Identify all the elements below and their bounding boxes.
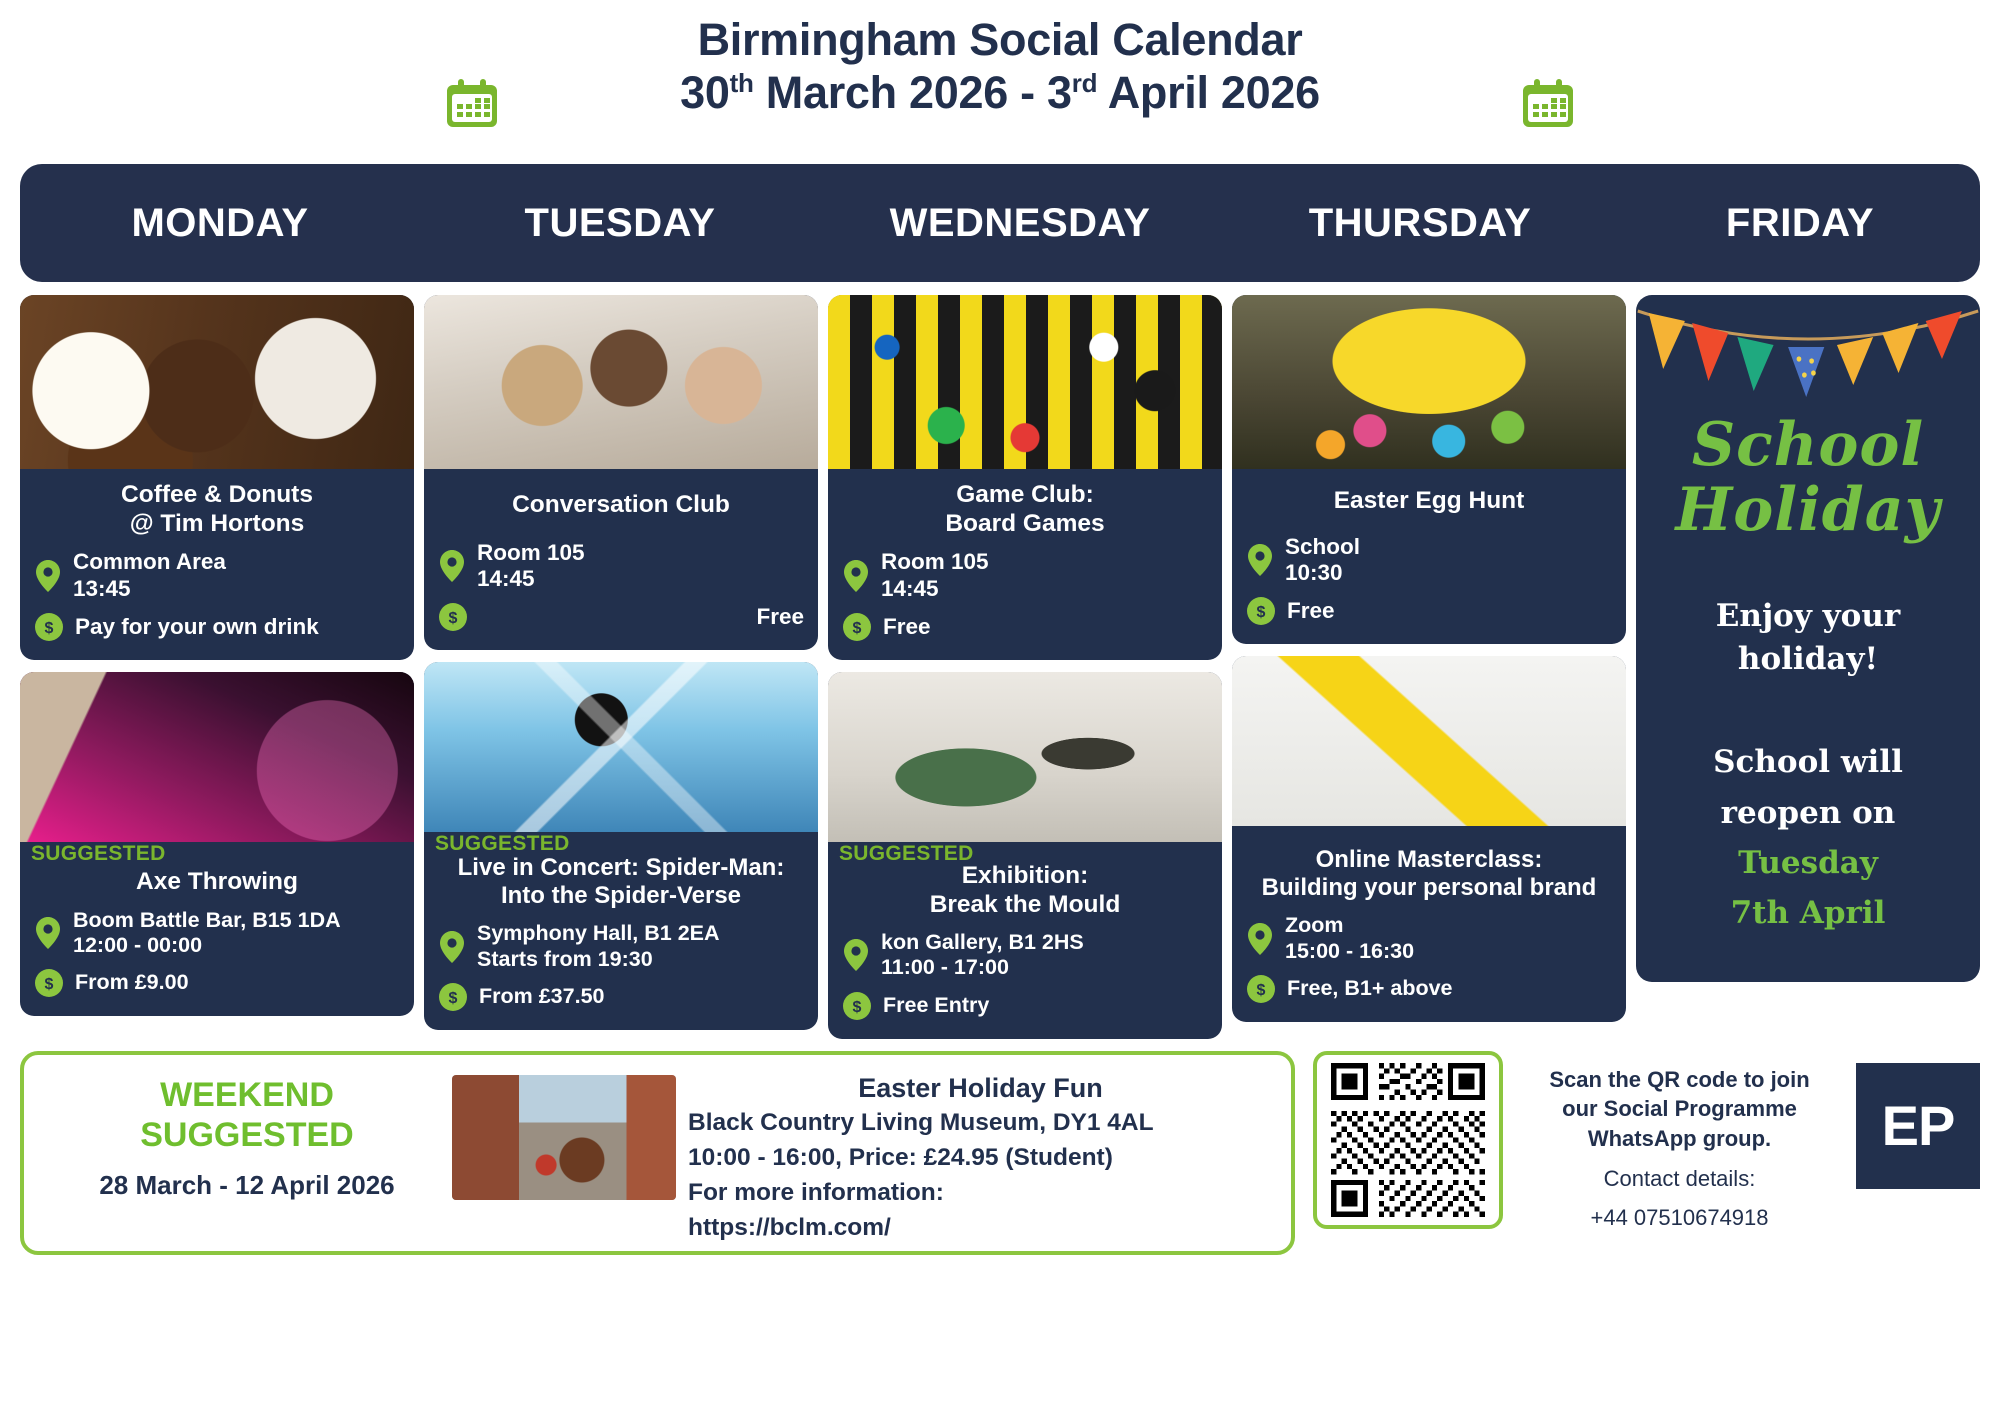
weekend-event-title: Easter Holiday Fun bbox=[688, 1073, 1273, 1104]
weekend-date-range: 28 March - 12 April 2026 bbox=[42, 1170, 452, 1201]
svg-text:$: $ bbox=[1257, 604, 1266, 621]
location-pin-icon bbox=[34, 560, 62, 592]
location-pin-icon bbox=[842, 560, 870, 592]
event-location: Room 105 bbox=[477, 540, 585, 566]
event-time: Starts from 19:30 bbox=[477, 947, 720, 972]
dollar-coin-icon: $ bbox=[842, 612, 872, 642]
event-location: kon Gallery, B1 2HS bbox=[881, 930, 1084, 955]
event-title-line2: Into the Spider-Verse bbox=[442, 882, 800, 910]
calendar-poster: Birmingham Social Calendar 30th March 20… bbox=[0, 0, 2000, 1414]
suggested-badge: SUGGESTED bbox=[435, 832, 570, 856]
event-time: 11:00 - 17:00 bbox=[881, 955, 1084, 980]
svg-text:$: $ bbox=[45, 976, 54, 993]
event-price: Free, B1+ above bbox=[1287, 976, 1612, 1001]
dollar-coin-icon: $ bbox=[438, 982, 468, 1012]
event-price: Free Entry bbox=[883, 993, 1208, 1018]
holiday-script-line1: School bbox=[1636, 413, 1980, 478]
event-location: Room 105 bbox=[881, 549, 989, 575]
location-pin-icon bbox=[842, 939, 870, 971]
event-title-line1: Online Masterclass: bbox=[1250, 846, 1608, 874]
location-pin-icon bbox=[1246, 544, 1274, 576]
weekend-event-details: Easter Holiday Fun Black Country Living … bbox=[688, 1069, 1273, 1244]
svg-text:$: $ bbox=[45, 620, 54, 637]
svg-text:$: $ bbox=[853, 999, 862, 1016]
contact-phone: +44 07510674918 bbox=[1519, 1203, 1840, 1233]
reopen-day: Tuesday bbox=[1636, 838, 1980, 888]
qr-code[interactable] bbox=[1313, 1051, 1503, 1229]
column-tuesday: Conversation Club Room 105 14:45 bbox=[424, 295, 818, 1030]
location-pin-icon bbox=[438, 550, 466, 582]
weekday-header-bar: MONDAY TUESDAY WEDNESDAY THURSDAY FRIDAY bbox=[20, 164, 1980, 282]
event-price: Free bbox=[1287, 598, 1612, 624]
column-friday: School Holiday Enjoy your holiday! Schoo… bbox=[1636, 295, 1980, 982]
qr-contact-area: Scan the QR code to join our Social Prog… bbox=[1295, 1051, 1980, 1233]
event-title-line1: Coffee & Donuts bbox=[38, 481, 396, 510]
column-thursday: Easter Egg Hunt School 10:30 bbox=[1232, 295, 1626, 1022]
event-card-spider-verse-concert[interactable]: SUGGESTED Live in Concert: Spider-Man: I… bbox=[424, 662, 818, 1029]
weekend-heading-block: WEEKEND SUGGESTED 28 March - 12 April 20… bbox=[42, 1069, 452, 1202]
event-time: 12:00 - 00:00 bbox=[73, 933, 341, 958]
poster-header: Birmingham Social Calendar 30th March 20… bbox=[20, 0, 1980, 160]
weekend-event-image bbox=[452, 1075, 676, 1200]
column-monday: Coffee & Donuts @ Tim Hortons Common Are… bbox=[20, 295, 414, 1016]
weekend-heading-line2: SUGGESTED bbox=[42, 1115, 452, 1156]
date-prefix: 30 bbox=[680, 67, 729, 118]
event-time: 14:45 bbox=[881, 576, 989, 602]
event-price: From £9.00 bbox=[75, 970, 400, 995]
event-image bbox=[424, 295, 818, 469]
event-card-game-club[interactable]: Game Club: Board Games Room 105 14:45 bbox=[828, 295, 1222, 660]
date-ordinal-2: rd bbox=[1072, 68, 1097, 98]
dollar-coin-icon: $ bbox=[34, 968, 64, 998]
day-header-monday: MONDAY bbox=[20, 201, 420, 246]
weekend-event-more-info: For more information: bbox=[688, 1176, 1273, 1209]
event-card-axe-throwing[interactable]: SUGGESTED Axe Throwing Boom Battle Bar, … bbox=[20, 672, 414, 1016]
weekend-event-time-price: 10:00 - 16:00, Price: £24.95 (Student) bbox=[688, 1141, 1273, 1174]
event-location: Boom Battle Bar, B15 1DA bbox=[73, 908, 341, 933]
holiday-message-line2: holiday! bbox=[1636, 638, 1980, 681]
event-image bbox=[828, 295, 1222, 469]
event-title-line2: @ Tim Hortons bbox=[38, 510, 396, 539]
scan-line3: WhatsApp group. bbox=[1519, 1124, 1840, 1154]
weekend-event-venue: Black Country Living Museum, DY1 4AL bbox=[688, 1106, 1273, 1139]
event-title-line1: Easter Egg Hunt bbox=[1250, 487, 1608, 516]
svg-text:$: $ bbox=[449, 610, 458, 627]
qr-instructions: Scan the QR code to join our Social Prog… bbox=[1519, 1051, 1840, 1233]
dollar-coin-icon: $ bbox=[1246, 596, 1276, 626]
event-price: Pay for your own drink bbox=[75, 614, 400, 640]
suggested-badge: SUGGESTED bbox=[839, 842, 974, 866]
event-image bbox=[1232, 656, 1626, 826]
event-card-easter-egg-hunt[interactable]: Easter Egg Hunt School 10:30 bbox=[1232, 295, 1626, 644]
day-header-friday: FRIDAY bbox=[1620, 201, 1980, 246]
dollar-coin-icon: $ bbox=[1246, 974, 1276, 1004]
location-pin-icon bbox=[438, 931, 466, 963]
contact-label: Contact details: bbox=[1519, 1164, 1840, 1194]
event-image bbox=[1232, 295, 1626, 469]
holiday-script-line2: Holiday bbox=[1636, 478, 1980, 543]
scan-line1: Scan the QR code to join bbox=[1519, 1065, 1840, 1095]
event-card-conversation-club[interactable]: Conversation Club Room 105 14:45 bbox=[424, 295, 818, 650]
event-card-online-masterclass[interactable]: Online Masterclass: Building your person… bbox=[1232, 656, 1626, 1021]
page-title: Birmingham Social Calendar bbox=[20, 14, 1980, 66]
date-range-title: 30th March 2026 - 3rd April 2026 bbox=[20, 66, 1980, 119]
scan-line2: our Social Programme bbox=[1519, 1094, 1840, 1124]
svg-text:$: $ bbox=[449, 990, 458, 1007]
suggested-badge: SUGGESTED bbox=[31, 842, 166, 866]
reopen-line1: School will bbox=[1636, 737, 1980, 787]
event-time: 10:30 bbox=[1285, 560, 1360, 586]
event-title-line2: Board Games bbox=[846, 510, 1204, 539]
event-image bbox=[20, 672, 414, 842]
event-card-coffee-donuts[interactable]: Coffee & Donuts @ Tim Hortons Common Are… bbox=[20, 295, 414, 660]
day-header-thursday: THURSDAY bbox=[1220, 201, 1620, 246]
reopen-line2: reopen on bbox=[1636, 788, 1980, 838]
footer-section: WEEKEND SUGGESTED 28 March - 12 April 20… bbox=[20, 1051, 1980, 1255]
school-holiday-panel: School Holiday Enjoy your holiday! Schoo… bbox=[1636, 295, 1980, 982]
event-time: 13:45 bbox=[73, 576, 226, 602]
event-location: Common Area bbox=[73, 549, 226, 575]
event-title-line1: Conversation Club bbox=[442, 491, 800, 520]
event-time: 15:00 - 16:30 bbox=[1285, 939, 1414, 964]
ep-logo: EP bbox=[1856, 1063, 1980, 1189]
event-title-line2: Break the Mould bbox=[846, 891, 1204, 920]
dollar-coin-icon: $ bbox=[842, 991, 872, 1021]
dollar-coin-icon: $ bbox=[34, 612, 64, 642]
events-grid: Coffee & Donuts @ Tim Hortons Common Are… bbox=[20, 295, 1980, 1039]
event-image bbox=[424, 662, 818, 832]
date-suffix: April 2026 bbox=[1097, 67, 1320, 118]
bunting-flags-icon bbox=[1636, 295, 1980, 415]
weekend-suggested-box: WEEKEND SUGGESTED 28 March - 12 April 20… bbox=[20, 1051, 1295, 1255]
event-price: Free bbox=[479, 604, 804, 630]
event-location: School bbox=[1285, 534, 1360, 560]
date-ordinal-1: th bbox=[730, 68, 754, 98]
event-image bbox=[20, 295, 414, 469]
event-title-line1: Exhibition: bbox=[846, 862, 1204, 891]
event-price: Free bbox=[883, 614, 1208, 640]
day-header-tuesday: TUESDAY bbox=[420, 201, 820, 246]
event-location: Zoom bbox=[1285, 913, 1414, 938]
event-location: Symphony Hall, B1 2EA bbox=[477, 921, 720, 946]
date-middle: March 2026 - 3 bbox=[754, 67, 1072, 118]
svg-text:$: $ bbox=[1257, 982, 1266, 999]
location-pin-icon bbox=[1246, 923, 1274, 955]
event-time: 14:45 bbox=[477, 566, 585, 592]
reopen-date: 7th April bbox=[1636, 888, 1980, 938]
event-price: From £37.50 bbox=[479, 984, 804, 1009]
day-header-wednesday: WEDNESDAY bbox=[820, 201, 1220, 246]
event-title-line2: Building your personal brand bbox=[1250, 874, 1608, 902]
holiday-message-line1: Enjoy your bbox=[1636, 595, 1980, 638]
location-pin-icon bbox=[34, 917, 62, 949]
event-title-line1: Live in Concert: Spider-Man: bbox=[442, 854, 800, 882]
weekend-event-url[interactable]: https://bclm.com/ bbox=[688, 1211, 1273, 1244]
event-image bbox=[828, 672, 1222, 842]
column-wednesday: Game Club: Board Games Room 105 14:45 bbox=[828, 295, 1222, 1039]
event-title-line1: Game Club: bbox=[846, 481, 1204, 510]
event-title-line1: Axe Throwing bbox=[38, 868, 396, 897]
svg-text:$: $ bbox=[853, 620, 862, 637]
dollar-coin-icon: $ bbox=[438, 602, 468, 632]
weekend-heading-line1: WEEKEND bbox=[42, 1075, 452, 1116]
event-card-break-the-mould[interactable]: SUGGESTED Exhibition: Break the Mould ko… bbox=[828, 672, 1222, 1039]
